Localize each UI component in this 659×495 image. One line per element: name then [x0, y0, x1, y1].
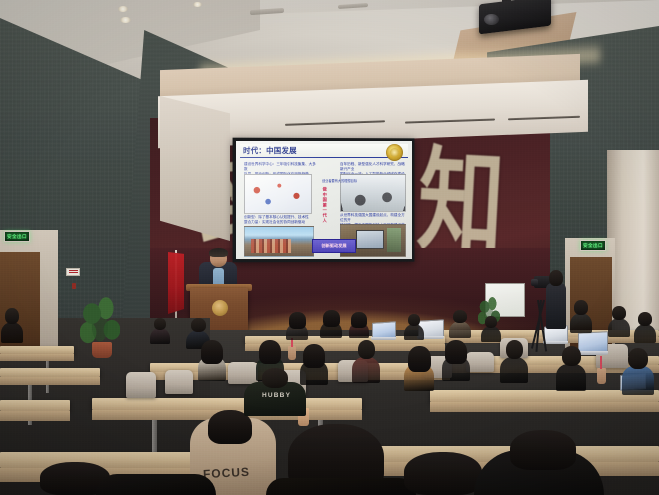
desk-row-left-front: [0, 377, 100, 385]
audience-member: [352, 340, 380, 382]
camera-operator-torso: [546, 283, 566, 329]
lecture-hall-photo: 致 知 时代：中国发展 建设世界科学中心：三年吸引科技聚集、大多数 队员、带动创…: [0, 0, 659, 495]
audience-head: [485, 316, 497, 328]
jacket-hubby-label: HUBBY: [262, 392, 291, 399]
desk-row-left: [0, 346, 74, 354]
audience-member: [570, 300, 592, 332]
audience-torso: [150, 328, 170, 344]
audience-head: [351, 312, 367, 328]
desk-row-left: [0, 368, 100, 377]
chair-back[interactable]: [466, 352, 494, 372]
exit-sign-left-label: 安全出口: [7, 234, 27, 240]
slide-highlight-badge: 创新驱动发展: [312, 239, 356, 253]
audience-head: [445, 340, 467, 364]
slide-title: 时代：中国发展: [243, 145, 297, 156]
audience-head: [201, 340, 223, 364]
desk-row-left-front: [0, 411, 70, 421]
projector-lens-icon: [484, 14, 499, 25]
audience-torso: [622, 366, 654, 395]
audience-member: [608, 306, 630, 336]
chair-back[interactable]: [126, 372, 156, 398]
slide-note: 创业者要有大的理想目标: [322, 178, 357, 183]
foreground-head-farright: [404, 452, 482, 495]
slide-crest-icon: [386, 144, 403, 161]
drink-cup[interactable]: [597, 368, 606, 384]
audience-member: [634, 312, 656, 342]
chinese-flag-icon: [168, 252, 184, 314]
audience-head: [574, 300, 588, 315]
audience-head: [506, 340, 523, 359]
audience-member: [320, 310, 342, 338]
audience-torso: [1, 322, 23, 343]
audience-torso: [608, 318, 630, 337]
audience-head: [358, 340, 375, 359]
exit-sign-right: 安全出口: [580, 240, 606, 251]
potted-plant-leaves: [80, 292, 120, 346]
audience-torso: [352, 357, 380, 383]
audience-head: [191, 318, 206, 332]
desk-row-front: [430, 402, 659, 412]
audience-torso: [634, 324, 656, 343]
audience-member: [1, 308, 23, 342]
audience-torso: [404, 324, 424, 340]
ceiling-downlight: [120, 17, 131, 23]
laptop-base: [543, 341, 568, 344]
ceiling-downlight: [118, 6, 128, 12]
audience-torso: [449, 321, 471, 338]
wall-calligraphy-2: 知: [415, 145, 507, 261]
drink-cup[interactable]: [288, 346, 296, 360]
audience-member: [198, 340, 226, 380]
audience-member: [286, 312, 308, 340]
audience-member: [442, 340, 470, 380]
foreground-shoulders-center: [96, 474, 216, 495]
audience-head: [5, 308, 19, 324]
audience-head: [562, 346, 581, 366]
doorway-left[interactable]: [0, 252, 40, 360]
audience-head: [453, 310, 467, 323]
desk-row: [92, 398, 362, 410]
audience-head-hubby: [262, 368, 288, 388]
desk-row-left-front: [0, 354, 74, 361]
potted-plant-pot: [92, 342, 112, 358]
foreground-shoulders-right: [266, 478, 416, 495]
projection-screen[interactable]: 时代：中国发展 建设世界科学中心：三年吸引科技聚集、大多数 队员、带动创新：形成…: [236, 141, 412, 259]
desk-row-left: [0, 400, 70, 411]
slide-vertical-text: 做中国第一代人: [322, 187, 328, 223]
slide-bullet-2: 创新型：除了基本核心认知提升、技术性 整合力量：实现社会化的协同创新驱动: [244, 215, 316, 225]
audience-head: [259, 340, 281, 364]
podium-emblem-icon: [212, 300, 228, 316]
foreground-head-center-right: [510, 430, 576, 470]
slide-image-1: [244, 174, 312, 214]
audience-head: [628, 348, 648, 369]
chair-back[interactable]: [165, 370, 193, 394]
soffit-return-wall: [160, 96, 230, 241]
audience-head: [154, 318, 166, 330]
audience-head: [408, 346, 431, 372]
audience-member: [556, 346, 586, 390]
exit-sign-right-label: 安全出口: [583, 243, 603, 249]
slide-image-2: [244, 226, 314, 257]
audience-head: [612, 306, 626, 320]
audience-head: [408, 314, 420, 326]
audience-head: [289, 312, 306, 329]
audience-member: [404, 346, 434, 390]
audience-member: [622, 348, 654, 394]
audience-head: [303, 344, 325, 368]
camera-lens-icon: [531, 279, 538, 286]
exit-sign-left: 安全出口: [4, 231, 30, 242]
audience-torso: [556, 364, 586, 391]
audience-member: [449, 310, 471, 338]
cup-straw-icon: [600, 356, 602, 369]
audience-member: [500, 340, 528, 382]
wall-notice-left: [66, 268, 80, 276]
audience-head: [323, 310, 340, 327]
audience-head: [638, 312, 652, 326]
ceiling-downlight: [193, 2, 202, 7]
audience-member: [150, 318, 170, 344]
audience-member: [300, 344, 328, 384]
slide-badge-label: 创新驱动发展: [321, 243, 346, 249]
presenter-hair: [209, 248, 228, 257]
camera-operator-head: [549, 270, 563, 286]
audience-member: [481, 316, 501, 342]
audience-member: [349, 312, 369, 338]
chair-back[interactable]: [228, 362, 258, 384]
audience-torso: [500, 357, 528, 383]
audience-torso: [481, 326, 501, 342]
emergency-button-left[interactable]: [72, 283, 76, 289]
audience-member: [404, 314, 424, 340]
audience-torso: [570, 313, 592, 333]
jacket-focus-label: FOCUS: [203, 465, 251, 481]
